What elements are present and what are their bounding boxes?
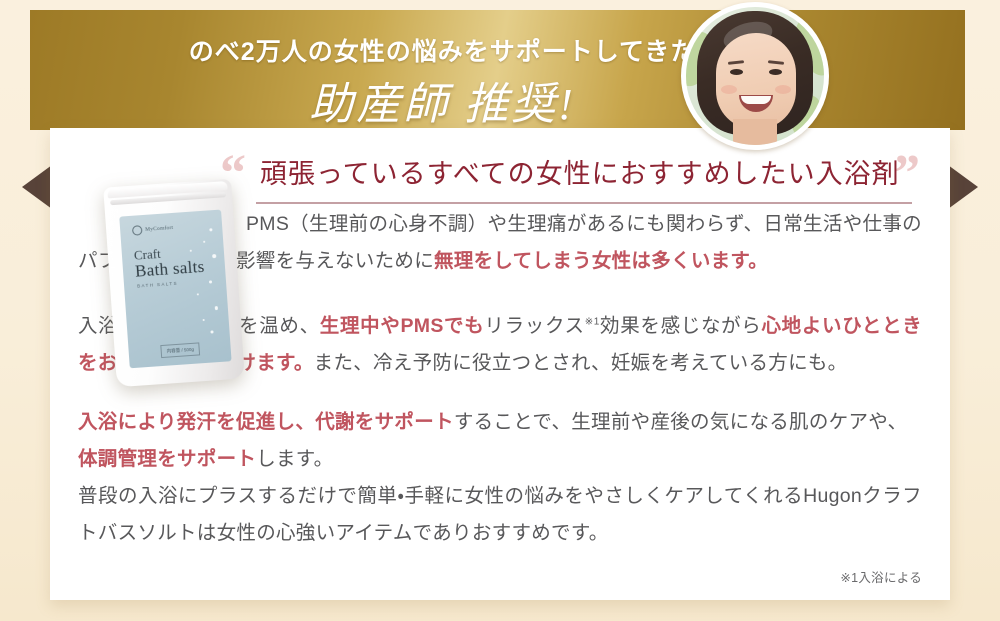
portrait-brow-left	[728, 60, 744, 65]
product-label-sub: BATH SALTS	[137, 281, 178, 289]
paragraph-3-text-b: します。	[256, 448, 333, 470]
paragraph-3-highlight-1: 入浴により発汗を促進し、代謝をサポート	[78, 411, 454, 433]
paragraph-3-highlight-2: 体調管理をサポート	[78, 448, 256, 470]
portrait-face	[716, 33, 796, 129]
brand-dot-icon	[132, 225, 143, 236]
portrait-brow-right	[768, 60, 784, 65]
paragraph-2-text-b: リラックス	[484, 315, 584, 337]
paragraph-2-text-d: また、冷え予防に役立つとされ、妊娠を考えている方にも。	[314, 352, 848, 374]
ribbon-tail-right-icon	[948, 165, 978, 209]
footnote: ※1入浴による	[840, 567, 922, 586]
portrait-cheek-right	[775, 85, 791, 94]
paragraph-4: 普段の入浴にプラスするだけで簡単・手軽に女性の悩みをやさしくケアしてくれるHug…	[78, 478, 922, 553]
portrait-eye-left	[730, 69, 743, 75]
product-package-image: MyComfort Craft Bath salts BATH SALTS 内容…	[103, 179, 245, 387]
paragraph-2-footnote-marker: ※1	[585, 317, 600, 328]
paragraph-3: 入浴により発汗を促進し、代謝をサポートすることで、生理前や産後の気になる肌のケア…	[78, 404, 922, 479]
portrait-eye-right	[769, 69, 782, 75]
portrait-mouth	[739, 95, 773, 112]
portrait-cheek-left	[721, 85, 737, 94]
avatar	[681, 2, 829, 150]
paragraph-2-highlight-1: 生理中やPMSでも	[320, 315, 485, 337]
portrait-neck	[733, 119, 777, 145]
page-background: のべ2万人の女性の悩みをサポートしてきた 助産師 推奨!	[0, 0, 1000, 621]
product-label-weight: 内容量 / 500g	[160, 342, 200, 358]
pouch-label: MyComfort Craft Bath salts BATH SALTS 内容…	[119, 210, 231, 369]
page-title: 頑張っているすべての女性におすすめしたい入浴剤	[260, 152, 864, 191]
portrait-teeth	[741, 96, 771, 104]
ribbon-tail-left-icon	[22, 165, 52, 209]
paragraph-1-highlight: 無理をしてしまう女性は多くいます。	[434, 250, 768, 272]
testimonial-card: MyComfort Craft Bath salts BATH SALTS 内容…	[50, 128, 950, 600]
paragraph-3-text-a: することで、生理前や産後の気になる肌のケアや、	[454, 411, 907, 433]
product-label-name: Bath salts	[134, 257, 205, 282]
avatar-photo	[686, 7, 824, 145]
paragraph-2-text-c: 効果を感じながら	[600, 315, 762, 337]
brand-name: MyComfort	[145, 225, 173, 233]
divider	[256, 202, 912, 204]
brand-logo: MyComfort	[132, 223, 174, 236]
